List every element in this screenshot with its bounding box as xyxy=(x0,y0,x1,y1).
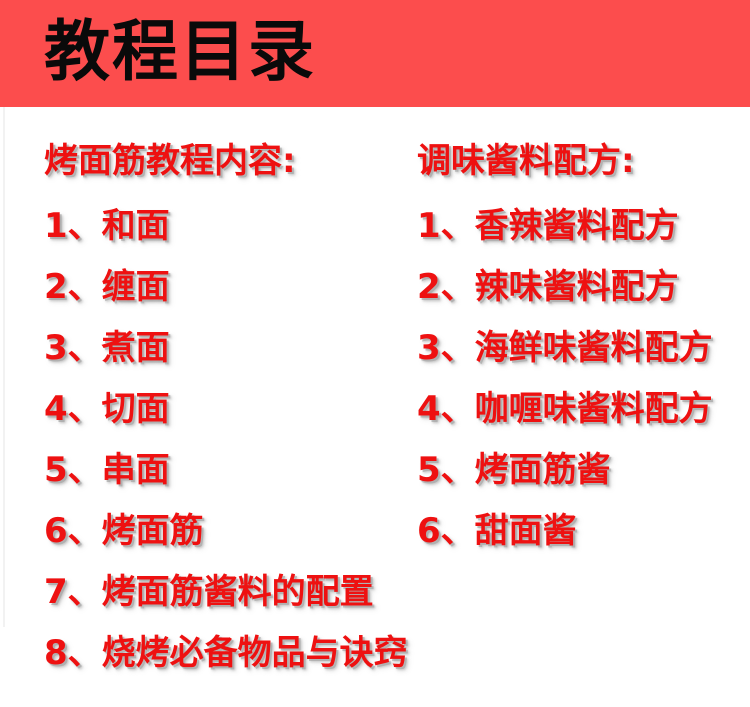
list-item-label: 缠面 xyxy=(102,264,170,311)
list-item: 5、烤面筋酱 xyxy=(417,447,750,508)
list-item-label: 切面 xyxy=(102,386,170,433)
list-item-number: 8、 xyxy=(44,630,102,677)
list-item: 6、烤面筋 xyxy=(44,508,464,569)
list-item-label: 辣味酱料配方 xyxy=(475,264,679,311)
list-item-label: 海鲜味酱料配方 xyxy=(475,325,713,372)
list-item: 6、甜面酱 xyxy=(417,508,750,569)
left-edge-rule xyxy=(3,107,5,627)
list-item: 3、海鲜味酱料配方 xyxy=(417,325,750,386)
list-item: 4、切面 xyxy=(44,386,464,447)
list-item-label: 和面 xyxy=(102,203,170,250)
tutorial-contents-list: 1、和面 2、缠面 3、煮面 4、切面 5、串面 6、烤面筋 7、烤面筋酱料的配… xyxy=(44,203,464,691)
tutorial-contents-heading: 烤面筋教程内容: xyxy=(44,140,296,182)
list-item: 1、香辣酱料配方 xyxy=(417,203,750,264)
list-item-number: 6、 xyxy=(44,508,102,555)
list-item: 3、煮面 xyxy=(44,325,464,386)
sauce-recipes-heading: 调味酱料配方: xyxy=(417,140,635,182)
list-item: 7、烤面筋酱料的配置 xyxy=(44,569,464,630)
list-item-number: 3、 xyxy=(44,325,102,372)
list-item-number: 1、 xyxy=(44,203,102,250)
list-item-number: 6、 xyxy=(417,508,475,555)
list-item: 8、烧烤必备物品与诀窍 xyxy=(44,630,464,691)
list-item: 2、缠面 xyxy=(44,264,464,325)
list-item-label: 咖喱味酱料配方 xyxy=(475,386,713,433)
list-item-label: 烧烤必备物品与诀窍 xyxy=(102,630,408,677)
list-item-label: 煮面 xyxy=(102,325,170,372)
list-item-label: 烤面筋酱料的配置 xyxy=(102,569,374,616)
list-item-number: 1、 xyxy=(417,203,475,250)
content-sheet: 烤面筋教程内容: 1、和面 2、缠面 3、煮面 4、切面 5、串面 6、烤面筋 … xyxy=(0,107,750,707)
list-item-label: 烤面筋 xyxy=(102,508,204,555)
list-item-number: 7、 xyxy=(44,569,102,616)
list-item-number: 2、 xyxy=(44,264,102,311)
list-item-number: 2、 xyxy=(417,264,475,311)
page-title: 教程目录 xyxy=(44,12,316,92)
list-item: 2、辣味酱料配方 xyxy=(417,264,750,325)
list-item-number: 5、 xyxy=(417,447,475,494)
list-item-label: 烤面筋酱 xyxy=(475,447,611,494)
list-item-number: 4、 xyxy=(44,386,102,433)
list-item: 5、串面 xyxy=(44,447,464,508)
list-item-label: 香辣酱料配方 xyxy=(475,203,679,250)
list-item-label: 串面 xyxy=(102,447,170,494)
list-item: 4、咖喱味酱料配方 xyxy=(417,386,750,447)
sauce-recipes-list: 1、香辣酱料配方 2、辣味酱料配方 3、海鲜味酱料配方 4、咖喱味酱料配方 5、… xyxy=(417,203,750,569)
header-banner: 教程目录 xyxy=(0,0,750,107)
list-item-number: 5、 xyxy=(44,447,102,494)
list-item: 1、和面 xyxy=(44,203,464,264)
list-item-number: 4、 xyxy=(417,386,475,433)
list-item-number: 3、 xyxy=(417,325,475,372)
list-item-label: 甜面酱 xyxy=(475,508,577,555)
